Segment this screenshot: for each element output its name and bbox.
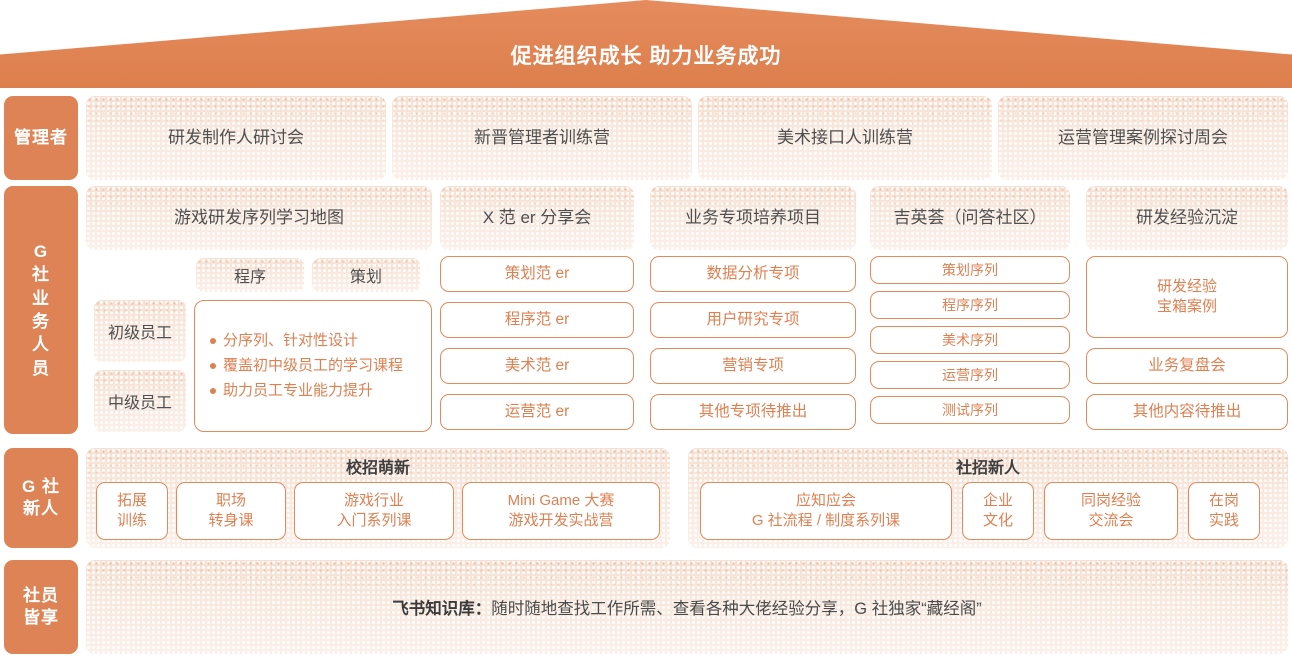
sidebar-char-2: 业	[32, 287, 50, 310]
pill-special-1-label: 用户研究专项	[706, 310, 799, 331]
card-rd-experience-label: 研发经验沉淀	[1086, 186, 1288, 250]
pill-qa-4-label: 测试序列	[942, 401, 998, 420]
pill-campus-2[interactable]: 游戏行业 入门系列课	[294, 482, 454, 540]
card-fan-er[interactable]: X 范 er 分享会	[440, 186, 634, 250]
knowledge-base-strong: 飞书知识库：	[392, 595, 491, 619]
sidebar-label-managers: 管理者	[14, 127, 68, 149]
pill-fan-er-0-label: 策划范 er	[505, 264, 570, 285]
sidebar-char-4: 人	[32, 333, 50, 356]
pill-special-3-label: 其他专项待推出	[699, 402, 808, 423]
group-campus-recruit-header: 校招萌新	[86, 454, 670, 478]
pill-rd-0-line-0: 研发经验	[1157, 277, 1217, 297]
pill-special-3[interactable]: 其他专项待推出	[650, 394, 856, 430]
pill-campus-0-line-1: 训练	[117, 511, 147, 531]
knowledge-base-rest: 随时随地查找工作所需、查看各种大佬经验分享，G 社独家“藏经阁”	[491, 595, 981, 619]
card-fan-er-label: X 范 er 分享会	[440, 186, 634, 250]
infographic-root: 促进组织成长 助力业务成功 管理者 研发制作人研讨会 新晋管理者训练营 美术接口…	[0, 0, 1292, 666]
sublabel-planning-label: 策划	[350, 263, 382, 287]
pill-campus-0[interactable]: 拓展 训练	[96, 482, 168, 540]
card-manager-2-label: 美术接口人训练营	[698, 96, 992, 180]
sidebar-tab-business[interactable]: G 社 业 务 人 员	[4, 186, 78, 434]
card-manager-3[interactable]: 运营管理案例探讨周会	[998, 96, 1288, 180]
sublabel-planning[interactable]: 策划	[312, 258, 420, 292]
pill-campus-2-line-1: 入门系列课	[336, 511, 411, 531]
pill-social-1[interactable]: 企业 文化	[962, 482, 1034, 540]
pill-qa-2-label: 美术序列	[942, 331, 998, 350]
pill-rd-0[interactable]: 研发经验 宝箱案例	[1086, 256, 1288, 338]
pill-rd-2[interactable]: 其他内容待推出	[1086, 394, 1288, 430]
pill-qa-0-label: 策划序列	[942, 261, 998, 280]
pill-qa-0[interactable]: 策划序列	[870, 256, 1070, 284]
pill-fan-er-1[interactable]: 程序范 er	[440, 302, 634, 338]
knowledge-base-text: 飞书知识库：随时随地查找工作所需、查看各种大佬经验分享，G 社独家“藏经阁”	[86, 560, 1288, 654]
pill-campus-0-line-0: 拓展	[117, 491, 147, 511]
level-middle-label: 中级员工	[108, 389, 172, 413]
pill-campus-1-line-0: 职场	[216, 491, 246, 511]
pill-qa-1-label: 程序序列	[942, 296, 998, 315]
roof-banner: 促进组织成长 助力业务成功	[0, 0, 1292, 88]
card-learning-map[interactable]: 游戏研发序列学习地图	[86, 186, 432, 250]
pill-campus-1-line-1: 转身课	[208, 511, 253, 531]
pill-campus-2-line-0: 游戏行业	[344, 491, 404, 511]
pill-social-0-line-0: 应知应会	[796, 491, 856, 511]
pill-social-3[interactable]: 在岗 实践	[1188, 482, 1260, 540]
pill-social-1-line-1: 文化	[983, 511, 1013, 531]
pill-qa-3[interactable]: 运营序列	[870, 361, 1070, 389]
card-manager-2[interactable]: 美术接口人训练营	[698, 96, 992, 180]
card-rd-experience[interactable]: 研发经验沉淀	[1086, 186, 1288, 250]
pill-campus-1[interactable]: 职场 转身课	[176, 482, 286, 540]
pill-qa-2[interactable]: 美术序列	[870, 326, 1070, 354]
pill-fan-er-0[interactable]: 策划范 er	[440, 256, 634, 292]
bullet-2: 助力员工专业能力提升	[223, 379, 421, 403]
pill-rd-1[interactable]: 业务复盘会	[1086, 348, 1288, 384]
pill-social-1-line-0: 企业	[983, 491, 1013, 511]
sidebar-tab-newcomers[interactable]: G 社 新人	[4, 448, 78, 548]
level-junior[interactable]: 初级员工	[94, 300, 186, 362]
sidebar-char-1: 社	[32, 263, 50, 286]
pill-social-3-line-0: 在岗	[1209, 491, 1239, 511]
pill-qa-3-label: 运营序列	[942, 366, 998, 385]
sidebar-char-5: 员	[32, 357, 50, 380]
pill-fan-er-2-label: 美术范 er	[505, 356, 570, 377]
pill-campus-3[interactable]: Mini Game 大赛 游戏开发实战营	[462, 482, 660, 540]
group-social-recruit-header: 社招新人	[688, 454, 1288, 478]
pill-special-0[interactable]: 数据分析专项	[650, 256, 856, 292]
level-junior-label: 初级员工	[108, 319, 172, 343]
sidebar-char-3: 务	[32, 310, 50, 333]
level-middle[interactable]: 中级员工	[94, 370, 186, 432]
card-manager-0[interactable]: 研发制作人研讨会	[86, 96, 386, 180]
card-manager-3-label: 运营管理案例探讨周会	[998, 96, 1288, 180]
sidebar-all-line-0: 社员	[23, 585, 59, 607]
pill-social-2-line-0: 同岗经验	[1081, 491, 1141, 511]
pill-fan-er-1-label: 程序范 er	[505, 310, 570, 331]
sublabel-program-label: 程序	[234, 263, 266, 287]
sublabel-program[interactable]: 程序	[196, 258, 304, 292]
pill-special-1[interactable]: 用户研究专项	[650, 302, 856, 338]
pill-special-2-label: 营销专项	[722, 356, 784, 377]
card-manager-0-label: 研发制作人研讨会	[86, 96, 386, 180]
pill-campus-3-line-1: 游戏开发实战营	[508, 511, 613, 531]
banner-title: 促进组织成长 助力业务成功	[0, 40, 1292, 70]
pill-special-2[interactable]: 营销专项	[650, 348, 856, 384]
pill-qa-4[interactable]: 测试序列	[870, 396, 1070, 424]
learning-map-bullets: 分序列、针对性设计 覆盖初中级员工的学习课程 助力员工专业能力提升	[194, 300, 432, 432]
card-learning-map-label: 游戏研发序列学习地图	[86, 186, 432, 250]
knowledge-base-bar[interactable]: 飞书知识库：随时随地查找工作所需、查看各种大佬经验分享，G 社独家“藏经阁”	[86, 560, 1288, 654]
pill-special-0-label: 数据分析专项	[706, 264, 799, 285]
pill-social-3-line-1: 实践	[1209, 511, 1239, 531]
pill-social-2-line-1: 交流会	[1088, 511, 1133, 531]
pill-rd-0-line-1: 宝箱案例	[1157, 297, 1217, 317]
sidebar-char-0: G	[34, 240, 48, 263]
pill-social-0-line-1: G 社流程 / 制度系列课	[752, 511, 900, 531]
pill-rd-2-label: 其他内容待推出	[1133, 402, 1242, 423]
sidebar-newcomer-line-0: G 社	[22, 476, 60, 498]
bullet-0: 分序列、针对性设计	[223, 329, 421, 353]
pill-social-0[interactable]: 应知应会 G 社流程 / 制度系列课	[700, 482, 952, 540]
pill-fan-er-3[interactable]: 运营范 er	[440, 394, 634, 430]
card-manager-1-label: 新晋管理者训练营	[392, 96, 692, 180]
pill-fan-er-2[interactable]: 美术范 er	[440, 348, 634, 384]
pill-qa-1[interactable]: 程序序列	[870, 291, 1070, 319]
pill-rd-1-label: 业务复盘会	[1148, 356, 1226, 377]
bullet-1: 覆盖初中级员工的学习课程	[223, 354, 421, 378]
pill-fan-er-3-label: 运营范 er	[505, 402, 570, 423]
card-special-programs[interactable]: 业务专项培养项目	[650, 186, 856, 250]
sidebar-newcomer-line-1: 新人	[23, 498, 59, 520]
sidebar-tab-managers[interactable]: 管理者	[4, 96, 78, 180]
pill-campus-3-line-0: Mini Game 大赛	[508, 491, 615, 511]
pill-social-2[interactable]: 同岗经验 交流会	[1044, 482, 1178, 540]
sidebar-tab-all-members[interactable]: 社员 皆享	[4, 560, 78, 654]
card-qa-community-label: 吉英荟（问答社区）	[870, 186, 1070, 250]
card-qa-community[interactable]: 吉英荟（问答社区）	[870, 186, 1070, 250]
sidebar-all-line-1: 皆享	[23, 607, 59, 629]
card-manager-1[interactable]: 新晋管理者训练营	[392, 96, 692, 180]
card-special-programs-label: 业务专项培养项目	[650, 186, 856, 250]
